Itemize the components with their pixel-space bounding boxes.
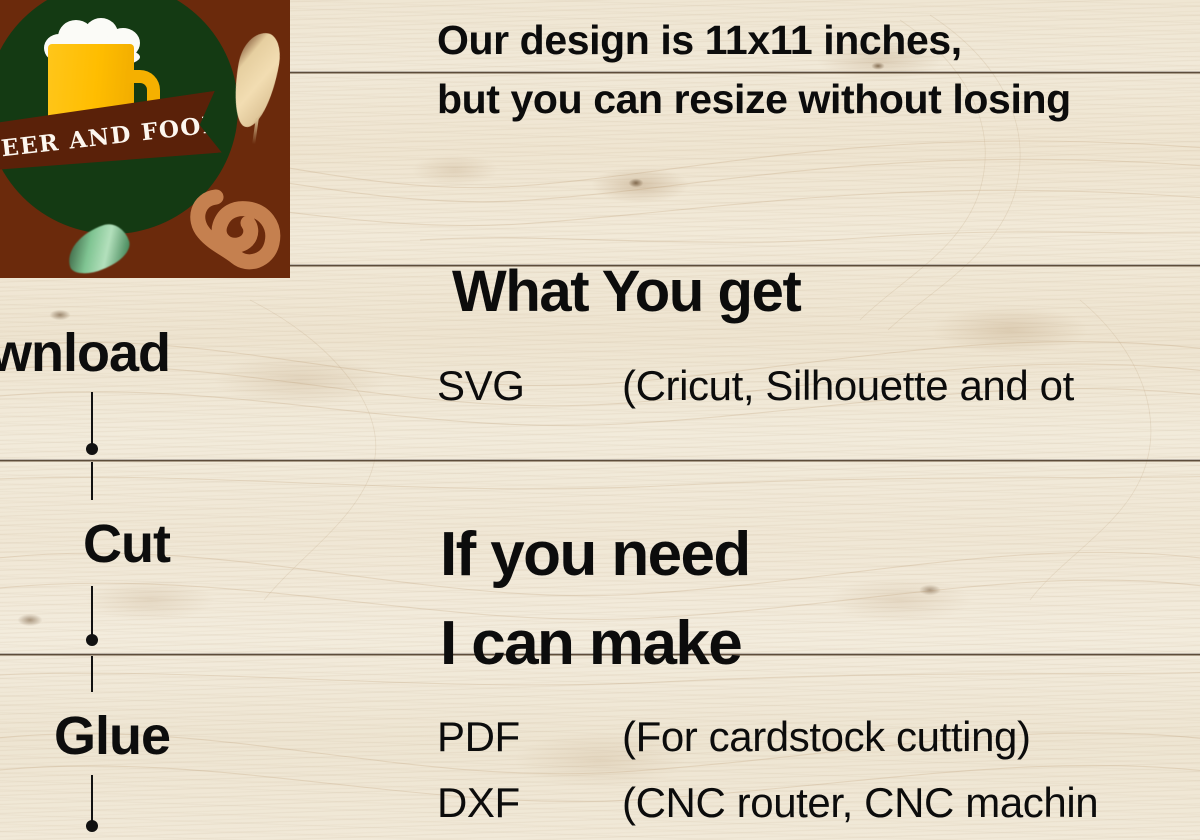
- step-connector-line: [91, 656, 93, 692]
- step-connector-dot: [86, 443, 98, 455]
- format-name-dxf: DXF: [437, 779, 622, 827]
- plank-seam: [0, 459, 1200, 462]
- step-connector-line: [91, 462, 93, 500]
- intro-line-1: Our design is 11x11 inches,: [437, 17, 962, 64]
- format-row-svg: SVG(Cricut, Silhouette and ot: [437, 362, 1074, 410]
- format-description-pdf: (For cardstock cutting): [622, 713, 1031, 760]
- format-description-dxf: (CNC router, CNC machin: [622, 779, 1098, 826]
- if-you-need-line-1: If you need: [440, 519, 750, 590]
- pretzel-icon: [186, 183, 282, 271]
- step-label-download: Download: [0, 322, 170, 384]
- step-label-glue: Glue: [54, 705, 170, 767]
- if-you-need-line-2: I can make: [440, 608, 741, 679]
- format-name-svg: SVG: [437, 362, 622, 410]
- what-you-get-heading: What You get: [452, 258, 800, 325]
- format-description-svg: (Cricut, Silhouette and ot: [622, 362, 1074, 409]
- format-name-pdf: PDF: [437, 713, 622, 761]
- step-connector-dot: [86, 634, 98, 646]
- format-row-dxf: DXF(CNC router, CNC machin: [437, 779, 1098, 827]
- step-connector-dot: [86, 820, 98, 832]
- brand-logo-badge: BEER AND FOOD: [0, 0, 290, 278]
- format-row-pdf: PDF(For cardstock cutting): [437, 713, 1031, 761]
- intro-line-2: but you can resize without losing: [437, 76, 1071, 123]
- step-label-cut: Cut: [83, 513, 170, 575]
- slide-canvas: BEER AND FOOD Download Cut Glue Our desi…: [0, 0, 1200, 840]
